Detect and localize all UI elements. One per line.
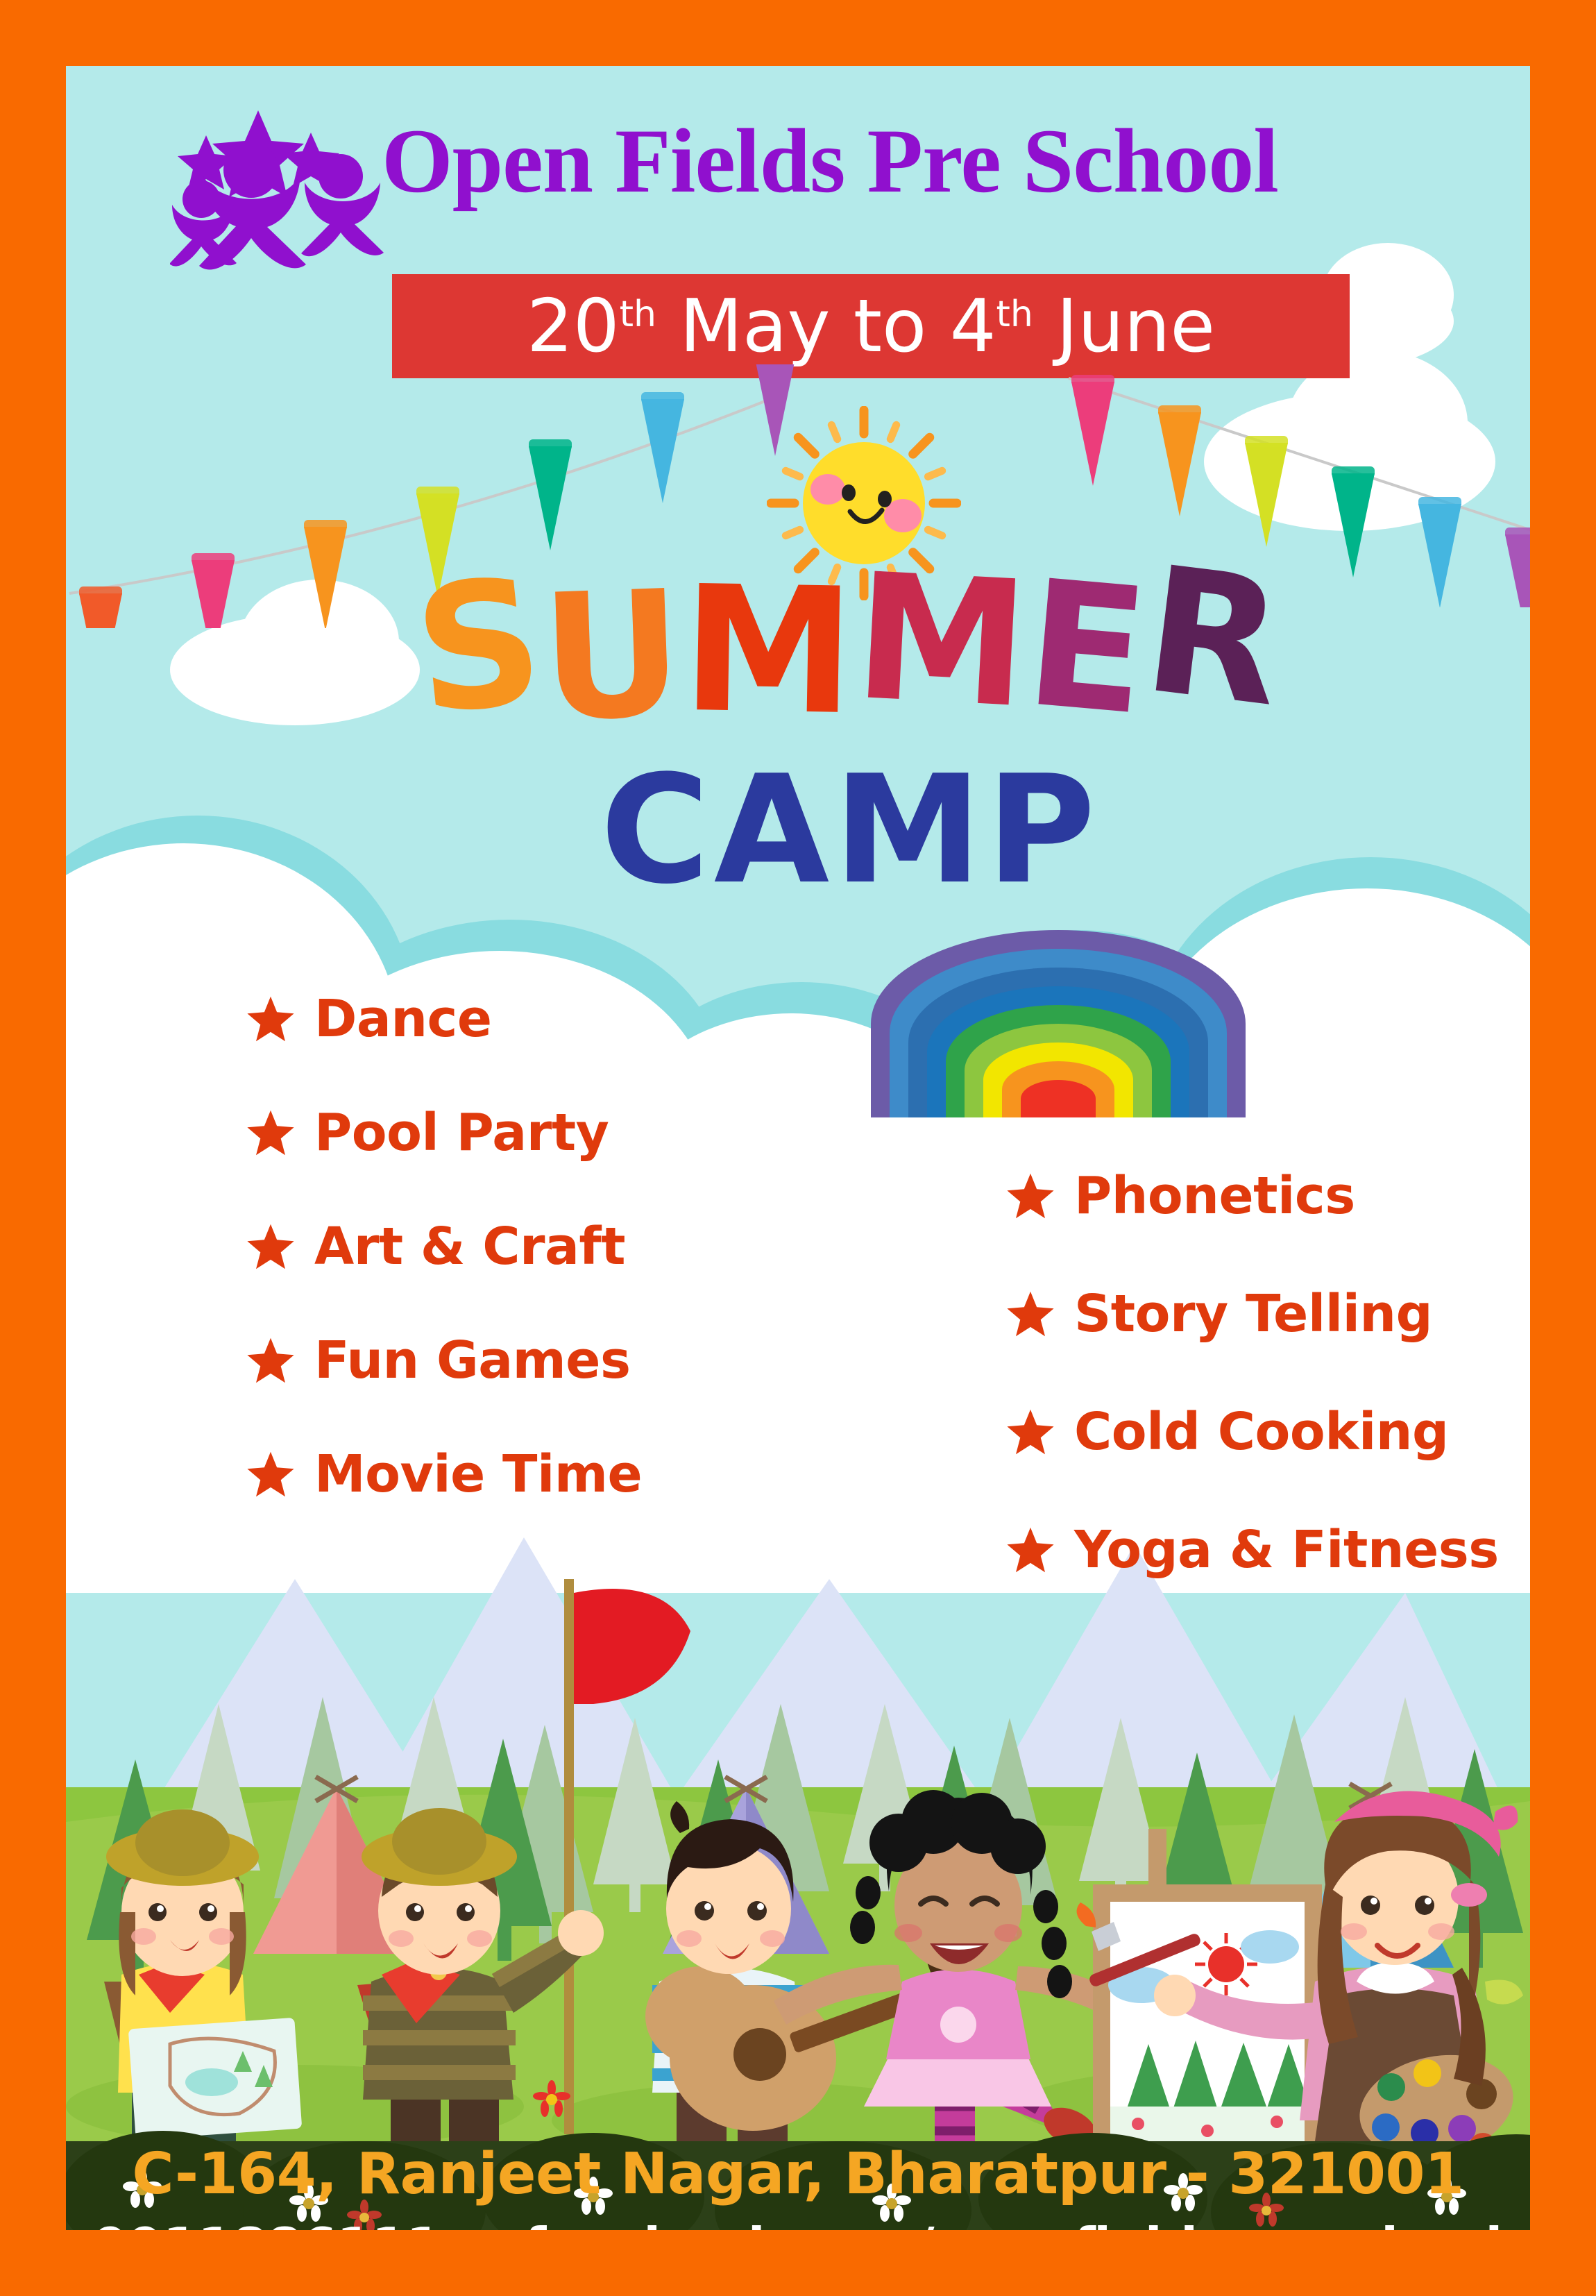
sun-ray-14: [913, 437, 930, 454]
sun-ray-15: [928, 471, 942, 476]
activity-item: Dance: [246, 989, 642, 1049]
activity-label: Story Telling: [1074, 1284, 1432, 1344]
star-bullet-icon: [246, 1222, 295, 1271]
start-day-suffix: th: [620, 294, 656, 335]
footer-contact: C-164, Ranjeet Nagar, Bharatpur - 321001…: [66, 2141, 1530, 2230]
end-day-suffix: th: [996, 294, 1033, 335]
pennant-left-cap-0: [79, 586, 122, 598]
address-line: C-164, Ranjeet Nagar, Bharatpur - 321001: [66, 2141, 1530, 2207]
activity-item: Pool Party: [246, 1103, 642, 1163]
page-title: Open Fields Pre School: [382, 113, 1506, 210]
poster-canvas: Open Fields Pre School 20th May to 4th J…: [66, 66, 1530, 2230]
pennant-right-cap-4: [1418, 497, 1461, 508]
pennant-left-2: [304, 527, 347, 628]
hero-letter-1: U: [538, 568, 686, 746]
pennant-right-cap-2: [1245, 436, 1288, 447]
activity-label: Movie Time: [314, 1444, 642, 1504]
activity-item: Art & Craft: [246, 1217, 642, 1276]
hero-title-camp: CAMP: [600, 743, 1100, 917]
start-month: May: [679, 284, 830, 369]
activity-label: Yoga & Fitness: [1074, 1520, 1499, 1580]
pennant-right-0: [1071, 382, 1114, 486]
end-month: June: [1056, 284, 1215, 369]
school-logo: [170, 109, 399, 276]
hero-letter-4: E: [1020, 557, 1153, 740]
activity-list-right: PhoneticsStory TellingCold CookingYoga &…: [1006, 1166, 1499, 1638]
activity-item: Yoga & Fitness: [1006, 1520, 1499, 1580]
pennant-left-1: [192, 560, 235, 628]
activity-list-left: DancePool PartyArt & CraftFun GamesMovie…: [246, 989, 642, 1558]
hero-title-summer: SUMMER: [416, 560, 1318, 768]
pennant-left-cap-5: [641, 392, 684, 403]
hero-letter-5: R: [1137, 543, 1291, 732]
pennant-right-5: [1505, 534, 1530, 607]
pennant-right-1: [1158, 412, 1201, 516]
pennant-right-cap-0: [1071, 375, 1114, 386]
pennant-right-4: [1418, 504, 1461, 607]
pennant-right-cap-1: [1158, 405, 1201, 416]
star-bullet-icon: [246, 995, 295, 1043]
activity-label: Art & Craft: [314, 1217, 625, 1276]
child-head-left: [182, 180, 220, 218]
sun-ray-7: [786, 530, 799, 535]
activity-label: Cold Cooking: [1074, 1402, 1448, 1462]
activity-label: Pool Party: [314, 1103, 609, 1163]
child-head-center: [223, 142, 279, 198]
pennant-left-cap-1: [192, 553, 235, 564]
star-bullet-icon: [1006, 1408, 1055, 1456]
sun-ray-9: [786, 471, 799, 476]
pennant-left-0: [79, 593, 122, 628]
pennant-right-2: [1245, 443, 1288, 547]
star-bullet-icon: [246, 1108, 295, 1157]
start-day: 20: [527, 284, 620, 369]
pennant-left-cap-4: [529, 439, 572, 450]
end-day: 4: [950, 284, 996, 369]
star-bullet-icon: [246, 1336, 295, 1385]
star-bullet-icon: [1006, 1172, 1055, 1220]
pennant-left-cap-2: [304, 520, 347, 531]
facebook-url[interactable]: facebook.com/openfieldspreschool: [525, 2217, 1502, 2230]
child-head-right: [319, 154, 363, 199]
activity-item: Story Telling: [1006, 1284, 1499, 1344]
star-bullet-icon: [1006, 1290, 1055, 1338]
bunting-string-right: [1069, 378, 1530, 531]
activity-item: Cold Cooking: [1006, 1402, 1499, 1462]
pennant-left-4: [529, 446, 572, 550]
sun-ray-13: [890, 425, 896, 439]
hero-letter-2: M: [681, 563, 856, 739]
pennant-right-cap-3: [1332, 466, 1375, 478]
rainbow-band-8: [1021, 1080, 1096, 1117]
activity-label: Fun Games: [314, 1331, 631, 1390]
pennant-right-3: [1332, 473, 1375, 577]
star-bullet-icon: [1006, 1526, 1055, 1574]
pennant-right-cap-5: [1505, 527, 1530, 539]
activity-item: Fun Games: [246, 1331, 642, 1390]
hero-letter-0: S: [407, 554, 550, 739]
contact-line: 9911886111 facebook.com/openfieldspresch…: [66, 2217, 1530, 2230]
activity-label: Dance: [314, 989, 492, 1049]
rainbow-graphic: [871, 930, 1246, 1117]
date-connector: to: [854, 284, 926, 369]
sun-ray-11: [831, 425, 837, 439]
sun-ray-10: [798, 437, 815, 454]
date-banner-text: 20th May to 4th June: [527, 284, 1215, 369]
sun-ray-1: [928, 530, 942, 535]
summer-camp-poster: Open Fields Pre School 20th May to 4th J…: [0, 0, 1596, 2296]
star-bullet-icon: [246, 1450, 295, 1499]
phone-number[interactable]: 9911886111: [94, 2217, 441, 2230]
activity-item: Movie Time: [246, 1444, 642, 1504]
pennant-left-5: [641, 399, 684, 503]
activity-item: Phonetics: [1006, 1166, 1499, 1226]
activity-label: Phonetics: [1074, 1166, 1355, 1226]
pennant-left-cap-3: [416, 487, 459, 498]
hero-letter-3: M: [851, 550, 1033, 733]
